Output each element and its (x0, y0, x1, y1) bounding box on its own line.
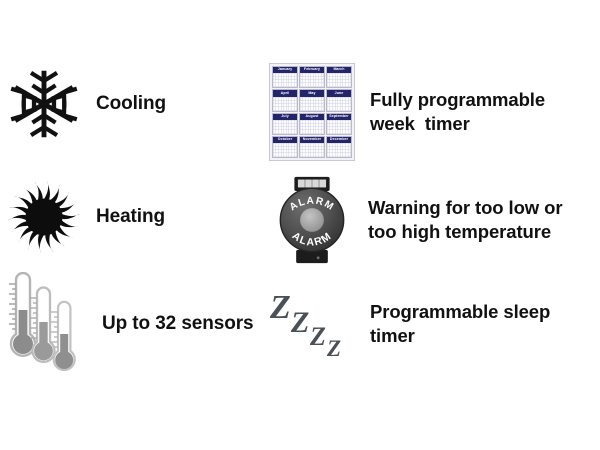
feature-week-timer: January February March April May (266, 58, 598, 166)
calendar-month-days (327, 143, 351, 157)
calendar-month-days (300, 143, 324, 157)
calendar-month: January (272, 66, 298, 88)
calendar-month: March (326, 66, 352, 88)
calendar-month: June (326, 89, 352, 111)
feature-week-timer-label: Fully programmable week timer (370, 88, 545, 135)
calendar-month: December (326, 136, 352, 158)
feature-heating: Heating (6, 178, 268, 256)
calendar-month: October (272, 136, 298, 158)
calendar-grid: January February March April May (269, 63, 355, 161)
calendar-month: February (299, 66, 325, 88)
calendar-month-days (300, 97, 324, 111)
feature-sleep-timer: Z Z Z Z Programmable sleep timer (266, 284, 598, 364)
zzz-sleep-icon: Z Z Z Z (266, 288, 358, 360)
calendar-month-days (300, 73, 324, 87)
sleep-letter: Z (326, 336, 341, 360)
feature-heating-label: Heating (96, 205, 165, 229)
calendar-month-days (273, 143, 297, 157)
sleep-letter: Z (290, 306, 309, 339)
feature-sensors-label: Up to 32 sensors (102, 312, 254, 336)
calendar-month-days (273, 120, 297, 134)
calendar-month: August (299, 113, 325, 135)
thermometers-icon (2, 272, 88, 376)
alarm-watch-icon: ALARM ALARM (268, 176, 356, 264)
calendar-month-days (327, 120, 351, 134)
calendar-month: April (272, 89, 298, 111)
feature-temperature-warning-label: Warning for too low or too high temperat… (368, 196, 562, 243)
calendar-month-days (300, 120, 324, 134)
feature-temperature-warning: ALARM ALARM Warning for too low or too h… (268, 176, 598, 264)
sleep-letter: Z (309, 322, 326, 351)
calendar-month-days (327, 73, 351, 87)
calendar-month-days (273, 73, 297, 87)
feature-sleep-timer-label: Programmable sleep timer (370, 300, 550, 347)
calendar-month: May (299, 89, 325, 111)
feature-sensors: Up to 32 sensors (2, 272, 268, 376)
calendar-month-days (327, 97, 351, 111)
feature-cooling: Cooling (6, 66, 268, 142)
feature-board: Cooling (0, 0, 600, 450)
feature-cooling-label: Cooling (96, 92, 166, 116)
calendar-month: July (272, 113, 298, 135)
sun-icon (6, 178, 82, 256)
calendar-icon: January February March April May (266, 59, 358, 165)
calendar-month: September (326, 113, 352, 135)
calendar-month: November (299, 136, 325, 158)
snowflake-icon (6, 66, 82, 142)
calendar-month-days (273, 97, 297, 111)
sleep-letter: Z (269, 289, 291, 326)
